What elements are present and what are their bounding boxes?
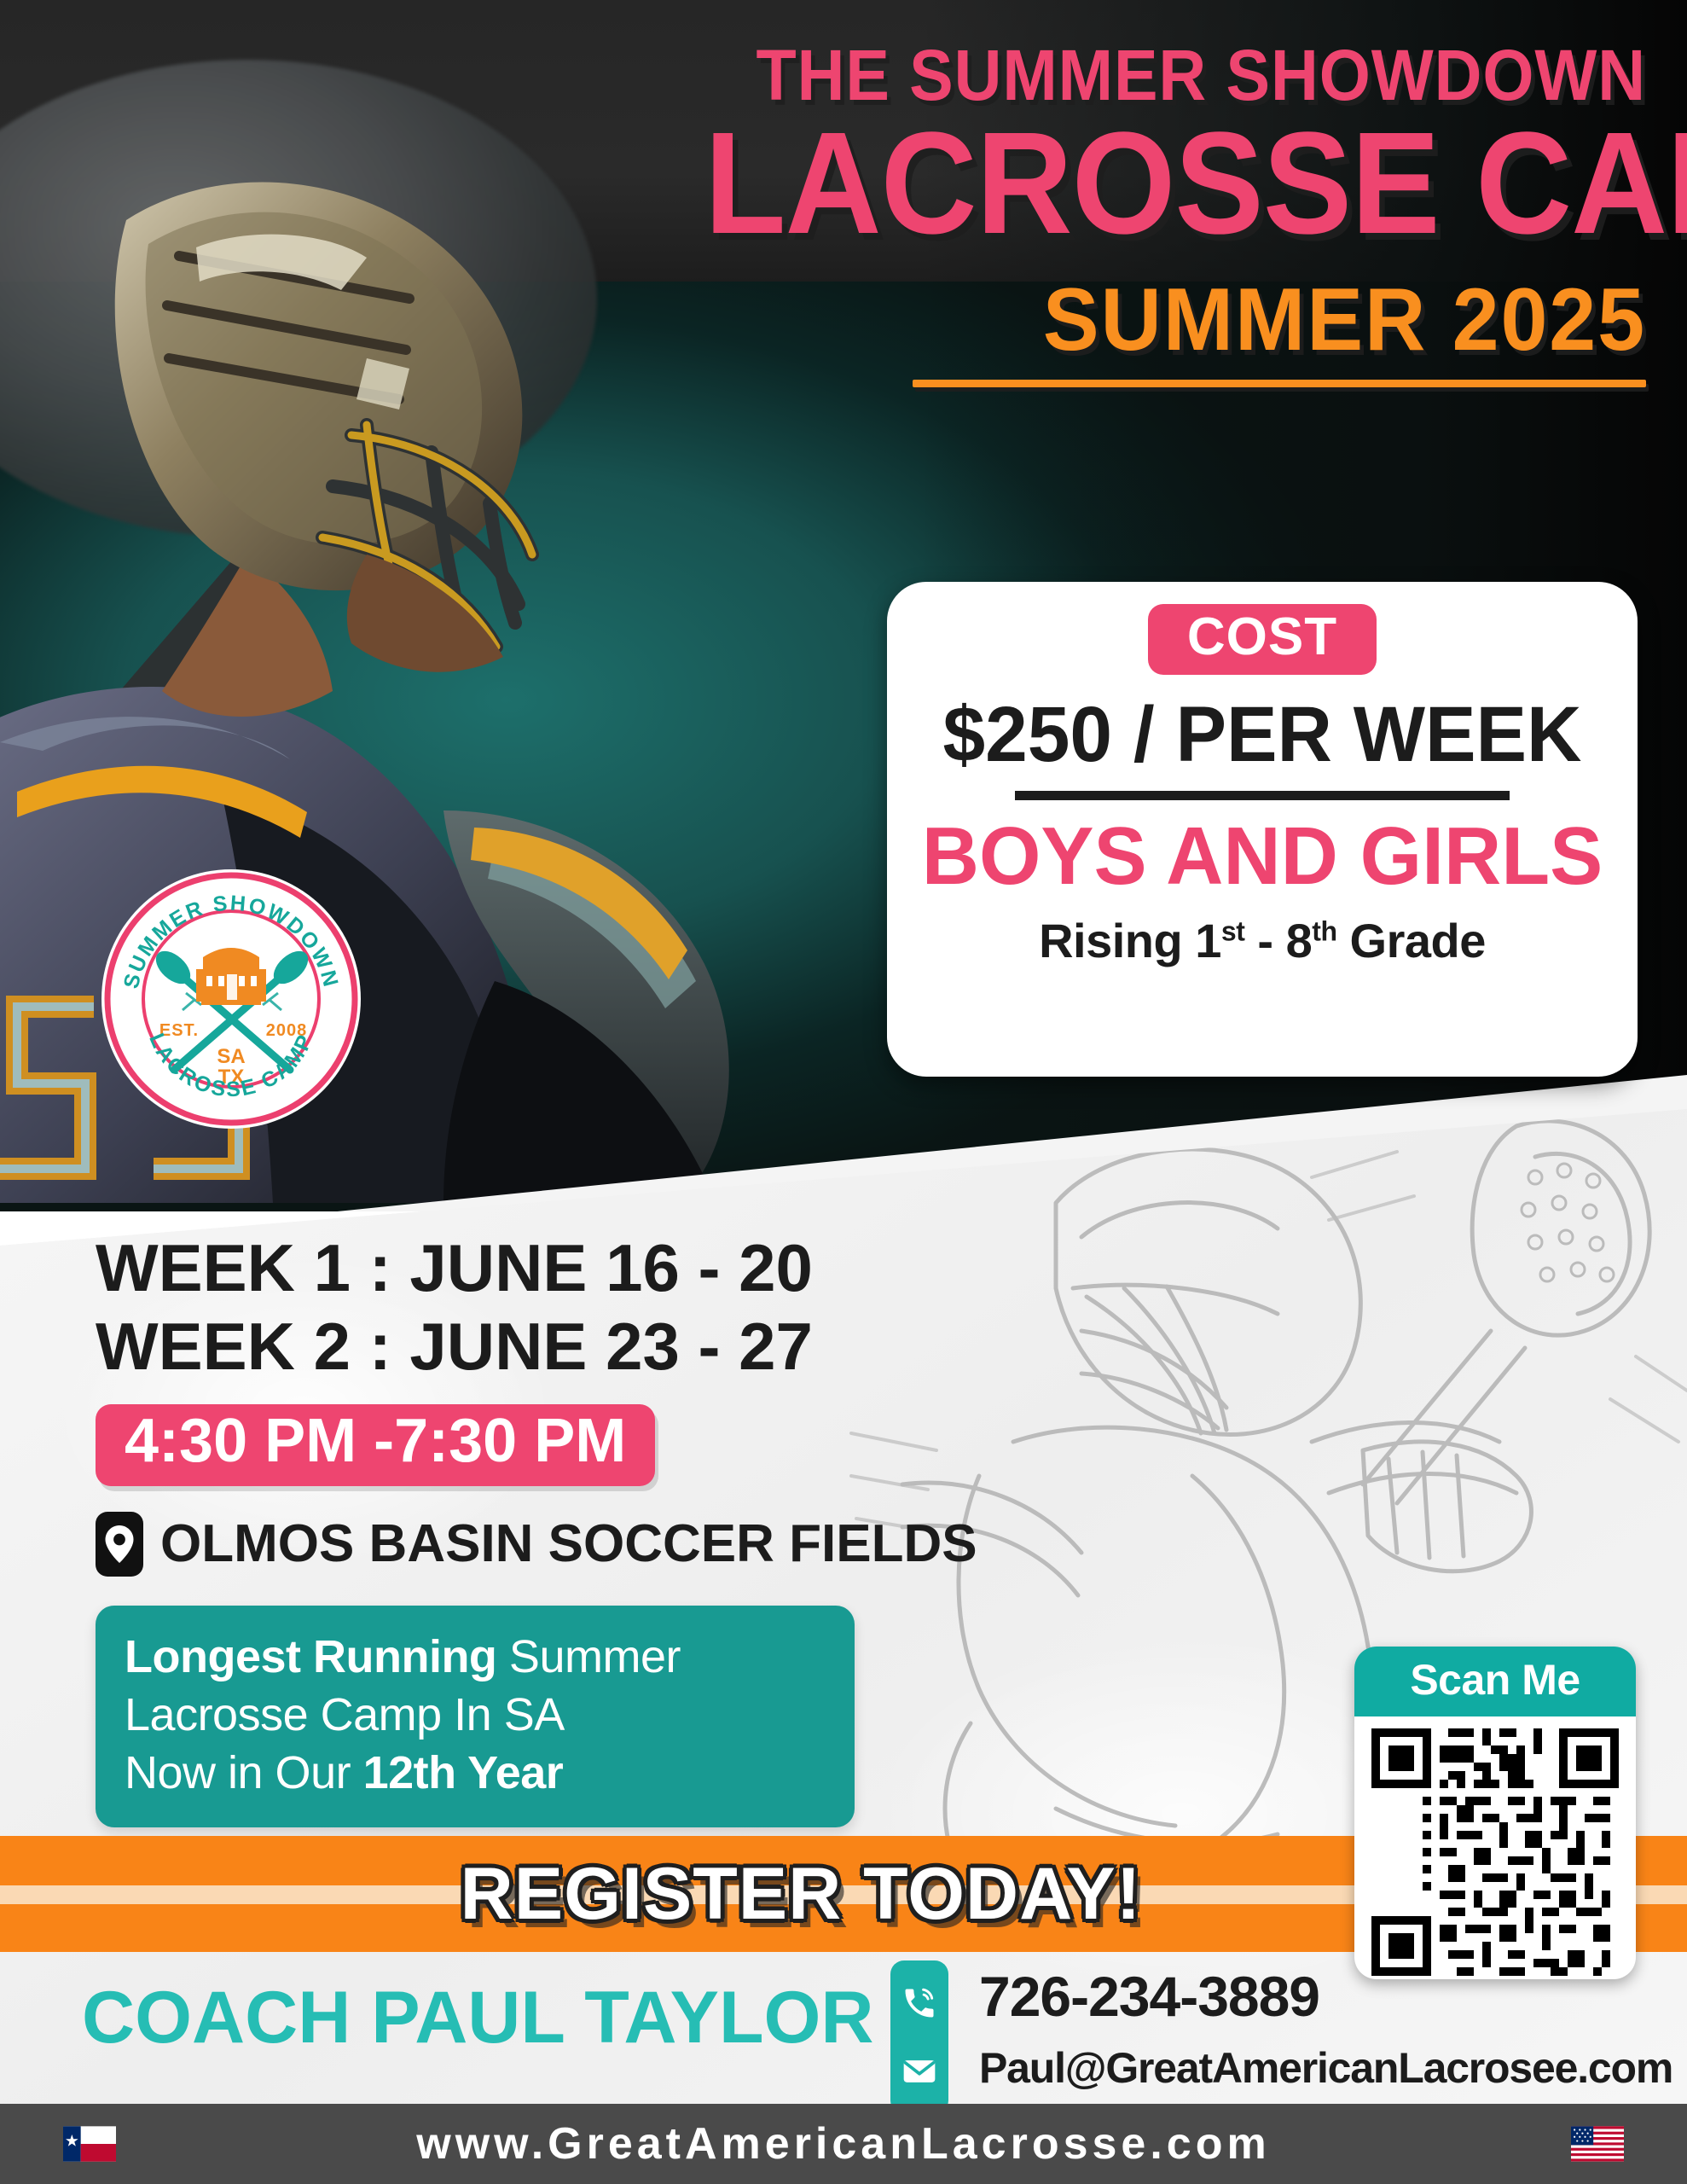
tagline-box: Longest Running Summer Lacrosse Camp In … <box>96 1606 855 1827</box>
location-name: OLMOS BASIN SOCCER FIELDS <box>160 1513 977 1574</box>
phone-icon <box>901 1984 938 2022</box>
cost-gender: BOYS AND GIRLS <box>898 816 1626 897</box>
location-pin-icon <box>96 1512 143 1577</box>
grade-suffix: Grade <box>1337 914 1486 967</box>
summer-showdown-logo: EST. 2008 SA TX SUMMER SHOWDOWN LACROSSE… <box>101 868 362 1130</box>
website-url[interactable]: www.GreatAmericanLacrosse.com <box>416 2118 1270 2169</box>
grade-mid: - 8 <box>1244 914 1312 967</box>
tagline-line-2: Lacrosse Camp In SA <box>125 1686 826 1744</box>
cost-divider <box>1015 791 1510 800</box>
contact-section: COACH PAUL TAYLOR 726-234-3889 Paul@Grea… <box>0 1962 1687 2116</box>
tagline-rest-1: Summer <box>496 1631 681 1682</box>
week-1-dates: WEEK 1 : JUNE 16 - 20 <box>96 1228 977 1307</box>
grade-prefix: Rising 1 <box>1039 914 1221 967</box>
page-subtitle-year: SUMMER 2025 <box>674 276 1646 364</box>
usa-flag-icon <box>1571 2125 1624 2163</box>
svg-text:SA: SA <box>217 1045 245 1068</box>
texas-flag-icon <box>63 2125 116 2163</box>
qr-header-label: Scan Me <box>1354 1647 1636 1716</box>
cost-card: COST $250 / PER WEEK BOYS AND GIRLS Risi… <box>887 582 1638 1077</box>
session-time-badge: 4:30 PM -7:30 PM <box>96 1404 655 1486</box>
location-row: OLMOS BASIN SOCCER FIELDS <box>96 1512 977 1577</box>
grade-ordinal-1: st <box>1221 915 1244 946</box>
tagline-bold-3: 12th Year <box>363 1747 564 1798</box>
tagline-pre-3: Now in Our <box>125 1747 363 1798</box>
title-block: THE SUMMER SHOWDOWN LACROSSE CAMP SUMMER… <box>623 41 1646 387</box>
schedule-block: WEEK 1 : JUNE 16 - 20 WEEK 2 : JUNE 23 -… <box>96 1228 977 1827</box>
title-underline <box>913 380 1646 387</box>
qr-code-card[interactable]: Scan Me <box>1354 1647 1636 1979</box>
qr-code-image[interactable] <box>1371 1728 1619 1976</box>
tagline-bold-1: Longest Running <box>125 1631 496 1682</box>
cost-badge: COST <box>1148 604 1377 675</box>
page-title-eyebrow: THE SUMMER SHOWDOWN <box>704 41 1646 110</box>
tagline-line-1: Longest Running Summer <box>125 1628 826 1686</box>
week-2-dates: WEEK 2 : JUNE 23 - 27 <box>96 1307 977 1385</box>
grade-ordinal-2: th <box>1312 915 1336 946</box>
contact-icon-bar <box>890 1960 948 2114</box>
tagline-line-3: Now in Our 12th Year <box>125 1744 826 1802</box>
flyer-page: THE SUMMER SHOWDOWN LACROSSE CAMP SUMMER… <box>0 0 1687 2184</box>
page-title: LACROSSE CAMP <box>704 117 1646 250</box>
cost-grade-range: Rising 1st - 8th Grade <box>887 913 1638 968</box>
email-address[interactable]: Paul@GreatAmericanLacrosee.com <box>979 2045 1673 2092</box>
coach-name: COACH PAUL TAYLOR <box>82 1976 874 2060</box>
contact-details: 726-234-3889 Paul@GreatAmericanLacrosee.… <box>979 1966 1673 2092</box>
footer-bar: www.GreatAmericanLacrosse.com <box>0 2104 1687 2184</box>
cost-price: $250 / PER WEEK <box>898 695 1626 774</box>
email-icon <box>901 2053 938 2090</box>
